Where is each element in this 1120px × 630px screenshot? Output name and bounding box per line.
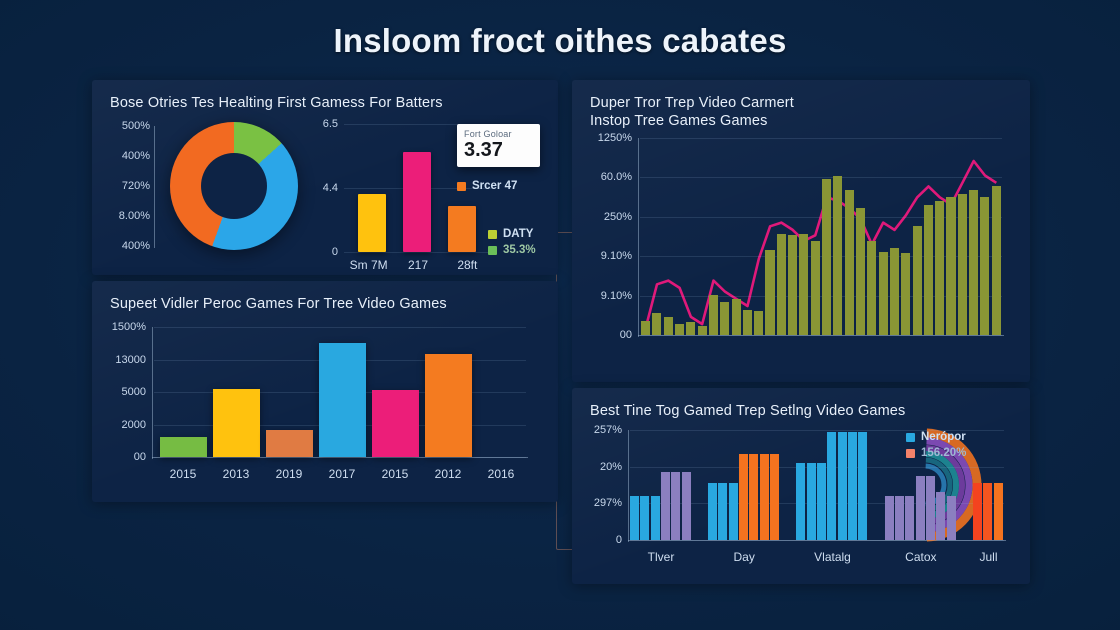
year-bar[interactable] xyxy=(319,343,366,457)
grouped-y-tick: 0 xyxy=(616,534,622,546)
card-combo-title-line2: Instop Tree Games Games xyxy=(590,112,1016,132)
combo-bar[interactable] xyxy=(664,317,673,335)
combo-bar[interactable] xyxy=(992,186,1001,335)
grouped-axis-line xyxy=(628,430,629,542)
card-grouped-bars: Best Tine Tog Gamed Trep Setlng Video Ga… xyxy=(572,388,1030,584)
legend-label: 156.20% xyxy=(921,447,966,459)
gridline xyxy=(640,177,1002,178)
combo-bar[interactable] xyxy=(788,235,797,335)
legend-item: Srcer 47 xyxy=(457,180,517,192)
donut-y-tick: 720% xyxy=(122,180,150,192)
combo-bar[interactable] xyxy=(901,253,910,335)
grouped-y-axis: 257%20%297%0 xyxy=(572,430,622,540)
donut-axis-line xyxy=(154,126,155,248)
grouped-bar[interactable] xyxy=(947,496,956,540)
mini-bar-x-tick: Sm 7M xyxy=(350,258,388,272)
grouped-x-tick: Catox xyxy=(905,550,936,564)
grouped-bar[interactable] xyxy=(895,496,904,540)
mini-bar-x-tick: 28ft xyxy=(457,258,477,272)
combo-y-tick: 1250% xyxy=(598,132,632,144)
donut-y-tick: 400% xyxy=(122,240,150,252)
grouped-bar[interactable] xyxy=(661,472,670,540)
kpi-label: Fort Goloar xyxy=(464,129,533,139)
card-combo-title-line1: Duper Tror Trep Video Carmert xyxy=(590,94,1016,114)
card-grouped-title: Best Tine Tog Gamed Trep Setlng Video Ga… xyxy=(590,402,1016,422)
grouped-bar[interactable] xyxy=(796,463,805,540)
combo-bar[interactable] xyxy=(777,234,786,335)
year-bar[interactable] xyxy=(266,430,313,457)
combo-bar[interactable] xyxy=(811,241,820,335)
combo-bar[interactable] xyxy=(732,299,741,335)
combo-bar[interactable] xyxy=(686,322,695,335)
grouped-x-axis: TlverDayVlatalgCatoxJull xyxy=(630,542,1004,564)
combo-bar[interactable] xyxy=(754,311,763,335)
gridline xyxy=(630,540,1004,541)
grouped-bar[interactable] xyxy=(729,483,738,540)
combo-bar[interactable] xyxy=(924,205,933,335)
year-bar[interactable] xyxy=(425,354,472,457)
grouped-bar[interactable] xyxy=(770,454,779,540)
legend-swatch xyxy=(457,182,466,191)
year-bars-x-tick: 2017 xyxy=(329,467,356,481)
combo-bar[interactable] xyxy=(743,310,752,335)
grouped-bar[interactable] xyxy=(885,496,894,540)
grouped-bar[interactable] xyxy=(739,454,748,540)
year-bar[interactable] xyxy=(160,437,207,457)
grouped-bar[interactable] xyxy=(817,463,826,540)
combo-bar[interactable] xyxy=(652,313,661,335)
grouped-bar[interactable] xyxy=(651,496,660,540)
donut-y-tick: 8.00% xyxy=(119,210,150,222)
year-bars-y-tick: 00 xyxy=(134,451,146,463)
year-bars-x-tick: 2015 xyxy=(382,467,409,481)
donut-y-tick: 400% xyxy=(122,150,150,162)
grouped-x-tick: Tlver xyxy=(648,550,675,564)
mini-bar[interactable] xyxy=(448,206,476,252)
legend-swatch xyxy=(488,230,497,239)
grouped-x-tick: Day xyxy=(733,550,754,564)
combo-bar[interactable] xyxy=(890,248,899,335)
legend-label: Nerópor xyxy=(921,431,966,443)
combo-bar[interactable] xyxy=(946,197,955,335)
legend-swatch xyxy=(906,449,915,458)
combo-bar[interactable] xyxy=(799,234,808,335)
combo-bar[interactable] xyxy=(879,252,888,335)
donut-y-tick: 500% xyxy=(122,120,150,132)
combo-bar[interactable] xyxy=(833,176,842,335)
grouped-bar[interactable] xyxy=(630,496,639,540)
grouped-x-tick: Vlatalg xyxy=(814,550,851,564)
combo-y-tick: 9.10% xyxy=(601,250,632,262)
card-combo-chart: Duper Tror Trep Video Carmert Instop Tre… xyxy=(572,80,1030,382)
combo-bar[interactable] xyxy=(980,197,989,335)
year-bars-y-tick: 2000 xyxy=(122,419,146,431)
grouped-bar[interactable] xyxy=(760,454,769,540)
gridline xyxy=(154,327,526,328)
legend-swatch xyxy=(488,246,497,255)
mini-bar-x-tick: 217 xyxy=(408,258,428,272)
grouped-bar[interactable] xyxy=(640,496,649,540)
year-bars-axis-line xyxy=(152,327,153,459)
grouped-bar[interactable] xyxy=(936,492,945,540)
legend-swatch xyxy=(906,433,915,442)
kpi-tooltip-card[interactable]: Fort Goloar 3.37 xyxy=(457,124,540,167)
legend-label: Srcer 47 xyxy=(472,180,517,192)
grouped-bar[interactable] xyxy=(916,476,925,540)
combo-axis-line xyxy=(638,138,639,337)
grouped-bar[interactable] xyxy=(905,496,914,540)
year-bars-y-tick: 13000 xyxy=(115,354,146,366)
combo-y-tick: 60.0% xyxy=(601,171,632,183)
gridline xyxy=(640,335,1002,336)
combo-bar[interactable] xyxy=(709,295,718,335)
year-bars-y-tick: 5000 xyxy=(122,386,146,398)
gridline xyxy=(640,138,1002,139)
card-year-bars-title: Supeet Vidler Peroc Games For Tree Video… xyxy=(110,295,544,315)
gridline xyxy=(154,457,526,458)
combo-bar[interactable] xyxy=(913,226,922,335)
year-bars-chart[interactable] xyxy=(154,327,526,457)
donut-chart[interactable] xyxy=(170,122,298,250)
combo-bar[interactable] xyxy=(822,179,831,335)
combo-bar[interactable] xyxy=(845,190,854,335)
grouped-bar[interactable] xyxy=(671,472,680,540)
legend-label: DATY xyxy=(503,228,533,240)
grouped-bar[interactable] xyxy=(827,432,836,540)
combo-bar[interactable] xyxy=(698,326,707,335)
combo-bar[interactable] xyxy=(765,250,774,335)
card-donut-title: Bose Otries Tes Healting First Gamess Fo… xyxy=(110,94,544,114)
grouped-bar[interactable] xyxy=(807,463,816,540)
year-bars-y-tick: 1500% xyxy=(112,321,146,333)
combo-bar[interactable] xyxy=(969,190,978,335)
year-bars-x-tick: 2015 xyxy=(170,467,197,481)
mini-bar[interactable] xyxy=(403,152,431,252)
grouped-y-tick: 20% xyxy=(600,461,622,473)
combo-y-tick: 250% xyxy=(604,211,632,223)
grouped-bar[interactable] xyxy=(926,476,935,540)
year-bar[interactable] xyxy=(213,389,260,457)
grouped-bar[interactable] xyxy=(718,483,727,540)
year-bars-x-tick: 2012 xyxy=(435,467,462,481)
grouped-bar[interactable] xyxy=(848,432,857,540)
legend-item: 35.3% xyxy=(488,244,536,256)
combo-bar[interactable] xyxy=(641,321,650,335)
combo-y-axis: 1250%60.0%250%9.10%9.10%00 xyxy=(574,138,632,335)
page-title: Insloom froct oithes cabates xyxy=(0,22,1120,60)
mini-bar-y-tick: 4.4 xyxy=(323,182,338,194)
mini-bar-y-tick: 0 xyxy=(332,246,338,258)
mini-bar-y-axis: 6.54.40 xyxy=(298,124,338,252)
year-bars-x-axis: 2015201320192017201520122016 xyxy=(154,459,526,481)
legend-item: DATY xyxy=(488,228,533,240)
mini-bar-x-axis: Sm 7M21728ft xyxy=(344,252,492,272)
grouped-bar[interactable] xyxy=(973,483,982,540)
grouped-x-tick: Jull xyxy=(979,550,997,564)
dashboard-root: Insloom froct oithes cabates Bose Otries… xyxy=(0,0,1120,630)
combo-y-tick: 00 xyxy=(620,329,632,341)
grouped-y-tick: 257% xyxy=(594,424,622,436)
combo-bar[interactable] xyxy=(856,208,865,335)
card-donut-overview: Bose Otries Tes Healting First Gamess Fo… xyxy=(92,80,558,275)
grouped-bar[interactable] xyxy=(708,483,717,540)
legend-item: 156.20% xyxy=(906,447,966,459)
grouped-bar[interactable] xyxy=(838,432,847,540)
grouped-y-tick: 297% xyxy=(594,497,622,509)
year-bars-x-tick: 2013 xyxy=(223,467,250,481)
grouped-bar[interactable] xyxy=(749,454,758,540)
mini-bar-y-tick: 6.5 xyxy=(323,118,338,130)
combo-bar[interactable] xyxy=(935,201,944,335)
year-bars-y-axis: 1500%130005000200000 xyxy=(94,327,146,457)
year-bars-x-tick: 2019 xyxy=(276,467,303,481)
year-bar[interactable] xyxy=(372,390,419,457)
grouped-bar[interactable] xyxy=(983,483,992,540)
mini-bar[interactable] xyxy=(358,194,386,252)
year-bars-x-tick: 2016 xyxy=(488,467,515,481)
card-year-bars: Supeet Vidler Peroc Games For Tree Video… xyxy=(92,281,558,502)
combo-bar[interactable] xyxy=(720,302,729,335)
combo-y-tick: 9.10% xyxy=(601,290,632,302)
legend-item: Nerópor xyxy=(906,431,966,443)
combo-bar[interactable] xyxy=(675,324,684,335)
donut-center-hole xyxy=(201,153,267,219)
combo-chart-plot[interactable] xyxy=(640,138,1002,335)
combo-bar[interactable] xyxy=(867,241,876,335)
combo-bar[interactable] xyxy=(958,194,967,335)
legend-label: 35.3% xyxy=(503,244,536,256)
grouped-bar[interactable] xyxy=(682,472,691,540)
grouped-bar[interactable] xyxy=(858,432,867,540)
grouped-bar[interactable] xyxy=(994,483,1003,540)
donut-y-axis: 500%400%720%8.00%400% xyxy=(98,126,150,246)
kpi-value: 3.37 xyxy=(464,140,533,161)
